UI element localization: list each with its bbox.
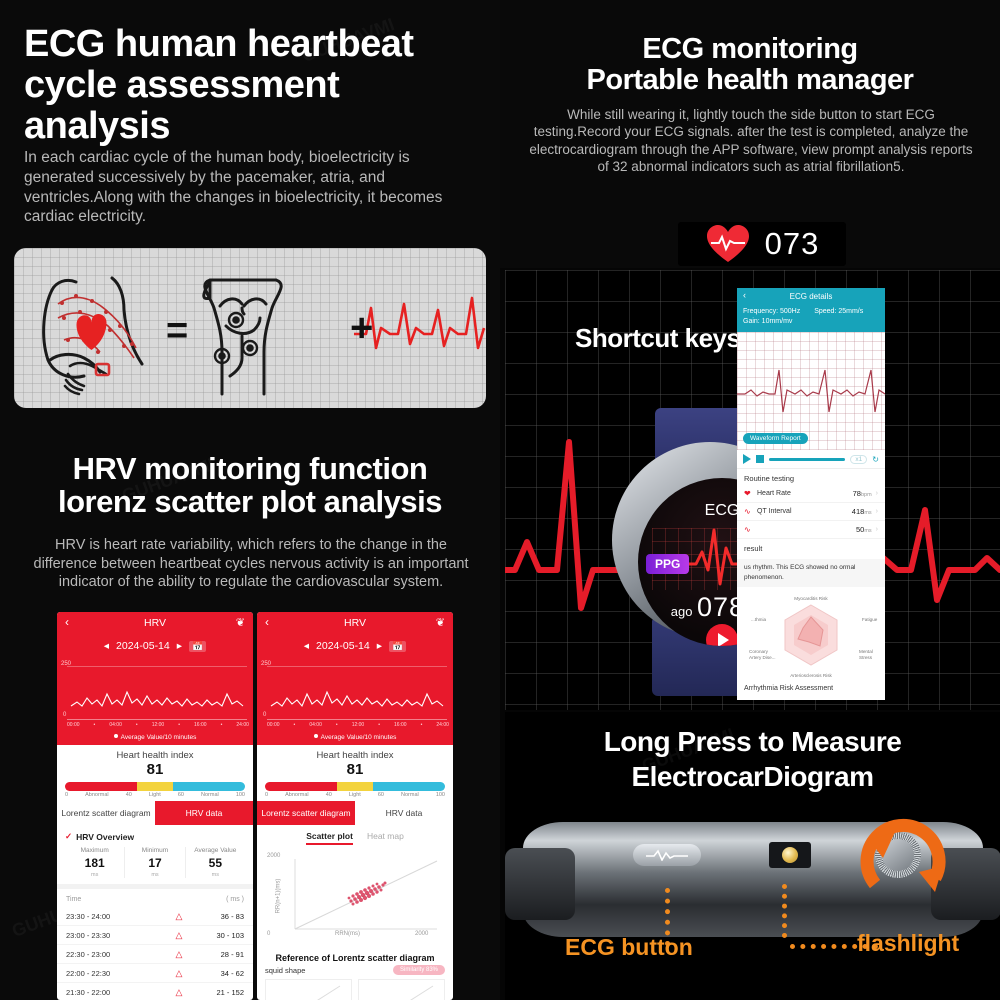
stat-label: Maximum (65, 847, 124, 854)
tab-hrv-data[interactable]: HRV data (355, 801, 453, 825)
heart-rate-badge: 073 (678, 222, 846, 266)
flashlight-led[interactable] (769, 842, 811, 868)
pulse-icon: △ (162, 987, 196, 998)
hrv-line-chart: 250 0 00:00 • 04:00 • 12:00 • 16:00 • 24… (257, 656, 453, 734)
reference-scatter-b (359, 980, 439, 1000)
row-range: 34 - 62 (196, 969, 244, 978)
x-tick-dot: • (421, 722, 423, 728)
scale-100: 100 (236, 792, 245, 798)
scale-0: 0 (65, 792, 68, 798)
row-number: 78 (853, 489, 861, 498)
x-tick: 12:00 (352, 722, 365, 728)
equals-sign: = (166, 310, 188, 353)
radar-label-4b: Artery Dise... (749, 655, 776, 660)
page-title: ECG human heartbeat cycle assessment ana… (24, 24, 484, 147)
scale-60: 60 (178, 792, 184, 798)
hrv-title-line1: HRV monitoring function (20, 452, 480, 485)
similarity-badge: Similarity 83% (393, 965, 445, 975)
chart-legend: Average Value/10 minutes (257, 734, 453, 745)
selected-date: 2024-05-14 (316, 640, 370, 652)
row-time: 23:30 - 24:00 (66, 912, 162, 921)
row-range: 28 - 91 (196, 950, 244, 959)
y-axis-label: RR(n+1)(ms) (275, 879, 281, 914)
callout-line-flashlight (782, 884, 792, 938)
tab-lorentz-scatter[interactable]: Lorentz scatter diagram (57, 801, 155, 825)
row-time: 22:30 - 23:00 (66, 950, 162, 959)
row-value: 50ms (856, 525, 872, 534)
panel-watch-ecg: Shortcut keys ECG PPG ECG ago 078BPM (505, 270, 1000, 710)
reference-row: squid shape Similarity 83% (257, 965, 453, 975)
chart-legend: Average Value/10 minutes (57, 734, 253, 745)
ecg-waveform-chart: Waveform Report (737, 332, 885, 450)
radar-label-5: ...thmia (751, 617, 767, 622)
row-value: 78bpm (853, 489, 872, 498)
chevron-right-icon: › (876, 490, 878, 497)
ecg-player-controls: x1 ↻ (737, 450, 885, 469)
segment-abnormal: Abnormal (85, 792, 109, 798)
hrv-tab-bar: Lorentz scatter diagram HRV data (57, 801, 253, 825)
chevron-right-icon: › (876, 508, 878, 515)
stat-unit: ms (65, 872, 124, 878)
ecg-app-header: ‹ ECG details (737, 288, 885, 304)
rotating-crown-arrows (839, 804, 969, 914)
stat-value: 17 (125, 854, 184, 872)
wave-icon: ∿ (744, 525, 757, 534)
list-item[interactable]: ❤ Heart Rate 78bpm › (737, 485, 885, 503)
x-tick: 00:00 (267, 722, 280, 728)
progress-track[interactable] (769, 458, 845, 461)
long-press-title-line1: Long Press to Measure (515, 724, 990, 759)
stat-minimum: Minimum 17 ms (125, 847, 185, 878)
x-tick: 12:00 (152, 722, 165, 728)
share-icon[interactable]: ❦ (236, 616, 245, 629)
shortcut-key-label: Shortcut keys (575, 324, 740, 352)
plus-sign: + (350, 306, 373, 351)
calendar-icon[interactable]: 📅 (389, 641, 406, 652)
calendar-icon[interactable]: 📅 (189, 641, 206, 652)
scale-100: 100 (436, 792, 445, 798)
ppg-pill-button[interactable]: PPG (646, 554, 689, 574)
y-axis-max: 2000 (267, 853, 280, 859)
list-item[interactable]: ∿ 50ms › (737, 521, 885, 539)
heart-icon: ❤ (744, 489, 757, 498)
hrv-title: HRV monitoring function lorenz scatter p… (20, 452, 480, 519)
pulse-icon: △ (162, 911, 196, 922)
x-axis-min: 0 (267, 931, 270, 937)
segment-light: Light (349, 792, 361, 798)
long-press-title: Long Press to Measure ElectrocarDiogram (515, 724, 990, 794)
row-range: 21 - 152 (196, 988, 244, 997)
risk-radar-chart: Myocarditis Risk Fatigue Mental Stress A… (737, 591, 885, 683)
x-tick: 00:00 (67, 722, 80, 728)
radar-label-1: Fatigue (862, 617, 878, 622)
radar-caption: Arrhythmia Risk Assessment (737, 683, 885, 694)
reference-shape-name: squid shape (265, 966, 305, 975)
row-unit: ms (864, 510, 871, 516)
radar-label-3: Arteriosclerosis Risk (790, 673, 832, 678)
ecg-wave-icon (644, 849, 690, 861)
radar-label-4: Coronary (749, 649, 769, 654)
chart-x-axis (67, 719, 247, 720)
callout-flashlight: flashlight (857, 930, 959, 957)
ecg-side-button[interactable] (633, 844, 701, 866)
row-number: 418 (852, 507, 865, 516)
stop-icon[interactable] (756, 455, 764, 463)
x-tick: 04:00 (109, 722, 122, 728)
reference-card-right (358, 979, 445, 1000)
segment-abnormal: Abnormal (285, 792, 309, 798)
hhi-value: 81 (257, 761, 453, 779)
flashlight-led-icon (782, 847, 798, 863)
segment-normal: Normal (201, 792, 219, 798)
ecg-monitoring-title-line2: Portable health manager (510, 65, 990, 96)
panel-long-press: Long Press to Measure ElectrocarDiogram (505, 712, 1000, 1000)
x-axis-max: 2000 (415, 931, 428, 937)
hrv-title-line2: lorenz scatter plot analysis (20, 485, 480, 518)
overview-title: HRV Overview (76, 832, 134, 842)
x-tick: 04:00 (309, 722, 322, 728)
result-note: us rhythm. This ECG showed no ormal phen… (737, 559, 885, 587)
prev-day-icon[interactable]: ◂ (104, 640, 109, 652)
heart-health-index: Heart health index 81 0 Abnormal 40 Ligh… (57, 745, 253, 801)
col-time: Time (66, 896, 81, 903)
legend-label: Average Value/10 minutes (121, 734, 197, 741)
app-header: ‹ HRV ❦ (57, 612, 253, 634)
x-tick-dot: • (178, 722, 180, 728)
phone-screenshot-ecg-details: ‹ ECG details Frequency: 500HzSpeed: 25m… (737, 288, 885, 700)
next-day-icon[interactable]: ▸ (177, 640, 182, 652)
hhi-gauge (265, 782, 445, 791)
legend-label: Average Value/10 minutes (321, 734, 397, 741)
callout-ecg-button: ECG button (565, 934, 693, 961)
col-unit: ( ms ) (226, 896, 244, 903)
row-name: Heart Rate (757, 490, 853, 497)
heart-rate-value: 073 (765, 226, 820, 262)
hhi-scale: 0 Abnormal 40 Light 60 Normal 100 (265, 792, 445, 798)
list-item[interactable]: ∿ QT Interval 418ms › (737, 503, 885, 521)
chevron-right-icon: › (876, 526, 878, 533)
hrv-table-header: Time ( ms ) (57, 884, 253, 907)
x-tick-dot: • (136, 722, 138, 728)
ecg-monitoring-title-line1: ECG monitoring (510, 34, 990, 65)
reference-card-left (265, 979, 352, 1000)
hrv-overview: ✓ HRV Overview Maximum 181 ms Minimum 17… (57, 825, 253, 878)
app-title: HRV (144, 617, 166, 629)
overview-header: ✓ HRV Overview (65, 831, 245, 842)
reference-cards (257, 975, 453, 1000)
long-press-title-line2: ElectrocarDiogram (515, 759, 990, 794)
stat-value: 181 (65, 854, 124, 872)
panel-ecg-cycle: ECG human heartbeat cycle assessment ana… (0, 0, 500, 430)
chart-x-ticks: 00:00 • 04:00 • 12:00 • 16:00 • 24:00 (267, 722, 449, 728)
meta-frequency: Frequency: 500Hz (743, 308, 800, 315)
play-icon (718, 633, 729, 646)
panel-ecg-monitoring: ECG monitoring Portable health manager W… (500, 0, 1000, 268)
table-row[interactable]: 23:30 - 24:00 △ 36 - 83 (57, 907, 253, 926)
ecg-monitoring-title: ECG monitoring Portable health manager (510, 34, 990, 97)
ecg-app-title: ECG details (790, 292, 833, 301)
hhi-value: 81 (57, 761, 253, 779)
hhi-scale: 0 Abnormal 40 Light 60 Normal 100 (65, 792, 245, 798)
row-time: 21:30 - 22:00 (66, 988, 162, 997)
lorentz-scatter-chart: 2000 RR(n+1)(ms) 0 RRN(ms) 2000 (265, 851, 445, 947)
x-axis-label: RRN(ms) (335, 931, 360, 937)
date-selector[interactable]: ◂ 2024-05-14 ▸ 📅 (57, 634, 253, 656)
radar-label-2: Mental (859, 649, 873, 654)
reference-scatter-a (266, 980, 346, 1000)
chart-x-axis (267, 719, 447, 720)
x-tick-dot: • (221, 722, 223, 728)
diagram-illustration (14, 248, 486, 408)
row-value: 418ms (852, 507, 872, 516)
hhi-gauge (65, 782, 245, 791)
ecg-meta: Frequency: 500HzSpeed: 25mm/s Gain: 10mm… (737, 304, 885, 332)
scale-40: 40 (126, 792, 132, 798)
pulse-icon: △ (162, 949, 196, 960)
stat-unit: ms (125, 872, 184, 878)
stat-label: Average Value (186, 847, 245, 854)
result-label: result (737, 539, 885, 555)
x-tick-dot: • (378, 722, 380, 728)
routine-testing-title: Routine testing (737, 469, 885, 485)
tab-lorentz-scatter[interactable]: Lorentz scatter diagram (257, 801, 355, 825)
scale-60: 60 (378, 792, 384, 798)
share-icon[interactable]: ❦ (436, 616, 445, 629)
scale-0: 0 (265, 792, 268, 798)
date-selector[interactable]: ◂ 2024-05-14 ▸ 📅 (257, 634, 453, 656)
hhi-title: Heart health index (57, 750, 253, 761)
meta-gain: Gain: 10mm/mv (743, 317, 879, 327)
ecg-cycle-description: In each cardiac cycle of the human body,… (24, 148, 480, 227)
pulse-icon: ✓ (65, 831, 72, 842)
ecg-monitoring-description: While still wearing it, lightly touch th… (526, 106, 976, 175)
waveform-report-badge[interactable]: Waveform Report (743, 433, 808, 444)
x-tick: 24:00 (436, 722, 449, 728)
pulse-icon: △ (162, 968, 196, 979)
scale-40: 40 (326, 792, 332, 798)
overview-stats: Maximum 181 ms Minimum 17 ms Average Val… (65, 847, 245, 878)
radar-label-2b: Stress (859, 655, 873, 660)
phone-screenshot-lorentz-scatter: ‹ HRV ❦ ◂ 2024-05-14 ▸ 📅 250 0 00:00 • 0… (257, 612, 453, 1000)
reference-title: Reference of Lorentz scatter diagram (257, 947, 453, 965)
scatter-subtabs: Scatter plot Heat map (257, 825, 453, 847)
speed-selector[interactable]: x1 (850, 455, 867, 464)
phone-screenshot-hrv-data: ‹ HRV ❦ ◂ 2024-05-14 ▸ 📅 250 0 00:00 • 0… (57, 612, 253, 1000)
ecg-cycle-diagram: = + (14, 248, 486, 408)
watch-band-left (505, 848, 575, 920)
tab-hrv-data[interactable]: HRV data (155, 801, 253, 825)
selected-date: 2024-05-14 (116, 640, 170, 652)
prev-day-icon[interactable]: ◂ (304, 640, 309, 652)
chevron-left-icon[interactable]: ‹ (743, 290, 746, 300)
stat-average: Average Value 55 ms (186, 847, 245, 878)
table-row[interactable]: 22:00 - 22:30 △ 34 - 62 (57, 964, 253, 983)
row-name: QT Interval (757, 508, 852, 515)
table-row[interactable]: 22:30 - 23:00 △ 28 - 91 (57, 945, 253, 964)
stat-value: 55 (186, 854, 245, 872)
row-time: 22:00 - 22:30 (66, 969, 162, 978)
row-range: 30 - 103 (196, 931, 244, 940)
ago-label: ago (671, 604, 693, 619)
radar-svg: Myocarditis Risk Fatigue Mental Stress A… (737, 591, 885, 683)
heart-health-index: Heart health index 81 0 Abnormal 40 Ligh… (257, 745, 453, 801)
chart-x-ticks: 00:00 • 04:00 • 12:00 • 16:00 • 24:00 (67, 722, 249, 728)
hrv-line-chart: 250 0 00:00 • 04:00 • 12:00 • 16:00 • 24… (57, 656, 253, 734)
hhi-title: Heart health index (257, 750, 453, 761)
stat-label: Minimum (125, 847, 184, 854)
meta-speed: Speed: 25mm/s (814, 308, 863, 315)
next-day-icon[interactable]: ▸ (377, 640, 382, 652)
legend-dot-icon (114, 734, 118, 738)
row-time: 23:00 - 23:30 (66, 931, 162, 940)
product-infographic: ECG human heartbeat cycle assessment ana… (0, 0, 1000, 1000)
segment-normal: Normal (401, 792, 419, 798)
smartwatch-side-view (523, 822, 983, 937)
x-tick: 24:00 (236, 722, 249, 728)
chevron-left-icon[interactable]: ‹ (65, 615, 69, 629)
subtab-heat-map[interactable]: Heat map (367, 831, 404, 845)
row-unit: ms (864, 528, 871, 534)
legend-dot-icon (314, 734, 318, 738)
stat-maximum: Maximum 181 ms (65, 847, 125, 878)
x-tick-dot: • (94, 722, 96, 728)
subtab-scatter-plot[interactable]: Scatter plot (306, 831, 353, 845)
x-tick: 16:00 (394, 722, 407, 728)
app-header: ‹ HRV ❦ (257, 612, 453, 634)
wave-icon: ∿ (744, 507, 757, 516)
play-icon[interactable] (743, 454, 751, 464)
hrv-description: HRV is heart rate variability, which ref… (26, 536, 476, 592)
x-tick-dot: • (294, 722, 296, 728)
row-unit: bpm (861, 492, 872, 498)
app-title: HRV (344, 617, 366, 629)
pulse-icon: △ (162, 930, 196, 941)
chevron-left-icon[interactable]: ‹ (265, 615, 269, 629)
x-tick-dot: • (336, 722, 338, 728)
loop-icon[interactable]: ↻ (872, 455, 879, 464)
heart-pulse-icon (705, 224, 751, 264)
table-row[interactable]: 21:30 - 22:00 △ 21 - 152 (57, 983, 253, 1000)
radar-label-0: Myocarditis Risk (794, 596, 828, 601)
row-range: 36 - 83 (196, 912, 244, 921)
x-tick: 16:00 (194, 722, 207, 728)
segment-light: Light (149, 792, 161, 798)
table-row[interactable]: 23:00 - 23:30 △ 30 - 103 (57, 926, 253, 945)
stat-unit: ms (186, 872, 245, 878)
hrv-tab-bar: Lorentz scatter diagram HRV data (257, 801, 453, 825)
